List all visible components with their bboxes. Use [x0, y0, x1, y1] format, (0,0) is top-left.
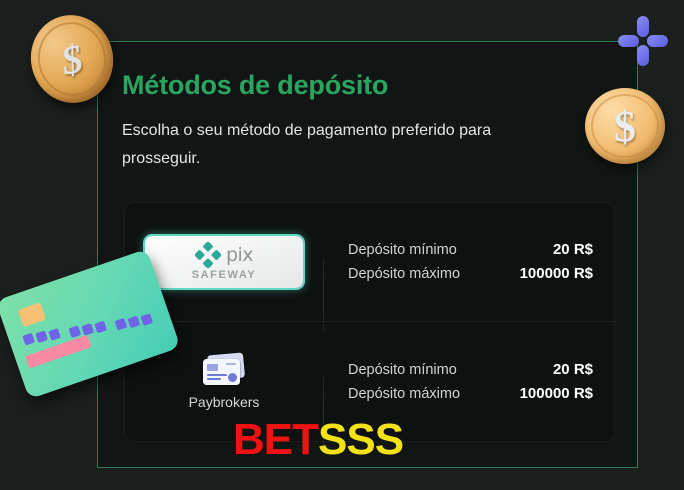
- min-deposit-label: Depósito mínimo: [348, 358, 457, 382]
- watermark-part-1: BET: [233, 415, 318, 464]
- max-deposit-label: Depósito máximo: [348, 382, 460, 406]
- methods-list: pix SAFEWAY Depósito mínimo 20 R$ Depósi…: [124, 202, 615, 442]
- card-magnetic-stripe: [25, 335, 92, 369]
- page-title: Métodos de depósito: [122, 70, 388, 101]
- max-deposit-value: 100000 R$: [520, 382, 593, 406]
- card-chip: [207, 364, 218, 371]
- method-name-label: Paybrokers: [189, 394, 260, 410]
- plus-arm-north: [637, 16, 649, 37]
- card-line-3: [226, 363, 236, 365]
- screenshot-root: Métodos de depósito Escolha o seu método…: [0, 0, 684, 490]
- plus-arm-west: [618, 35, 639, 47]
- credit-card-icon: [201, 354, 247, 388]
- deposit-methods-panel: Métodos de depósito Escolha o seu método…: [97, 41, 638, 468]
- plus-arm-east: [647, 35, 668, 47]
- min-deposit-label: Depósito mínimo: [348, 238, 457, 262]
- pix-wordmark: pix: [226, 246, 253, 265]
- page-subtitle: Escolha o seu método de pagamento prefer…: [122, 117, 562, 173]
- pix-logo-mark: pix: [195, 242, 253, 268]
- pix-logo-tile[interactable]: pix SAFEWAY: [145, 236, 303, 288]
- card-circle: [228, 373, 237, 382]
- min-deposit-line: Depósito mínimo 20 R$: [348, 238, 593, 262]
- min-deposit-line: Depósito mínimo 20 R$: [348, 358, 593, 382]
- dollar-sign-glyph: $: [23, 7, 122, 110]
- method-logo-cell[interactable]: Paybrokers: [124, 354, 324, 410]
- min-deposit-value: 20 R$: [553, 358, 593, 382]
- coin-icon: $: [585, 88, 665, 164]
- watermark-part-2: SSS: [318, 415, 403, 464]
- pix-diamond-icon: [195, 242, 221, 268]
- max-deposit-line: Depósito máximo 100000 R$: [348, 382, 593, 406]
- card-line-1: [207, 374, 227, 376]
- method-row[interactable]: pix SAFEWAY Depósito mínimo 20 R$ Depósi…: [124, 202, 615, 321]
- min-deposit-value: 20 R$: [553, 238, 593, 262]
- method-info-cell: Depósito mínimo 20 R$ Depósito máximo 10…: [324, 238, 615, 286]
- coin-icon: $: [23, 7, 122, 110]
- dollar-sign-glyph: $: [585, 88, 665, 164]
- watermark: BETSSS: [233, 418, 403, 462]
- pix-safeway-label: SAFEWAY: [192, 269, 257, 281]
- plus-arm-south: [637, 45, 649, 66]
- card-front-shape: [203, 359, 240, 385]
- max-deposit-line: Depósito máximo 100000 R$: [348, 262, 593, 286]
- plus-sparkle-icon: [618, 16, 668, 66]
- max-deposit-value: 100000 R$: [520, 262, 593, 286]
- method-info-cell: Depósito mínimo 20 R$ Depósito máximo 10…: [324, 358, 615, 406]
- max-deposit-label: Depósito máximo: [348, 262, 460, 286]
- card-line-2: [207, 378, 221, 380]
- card-chip: [18, 302, 47, 327]
